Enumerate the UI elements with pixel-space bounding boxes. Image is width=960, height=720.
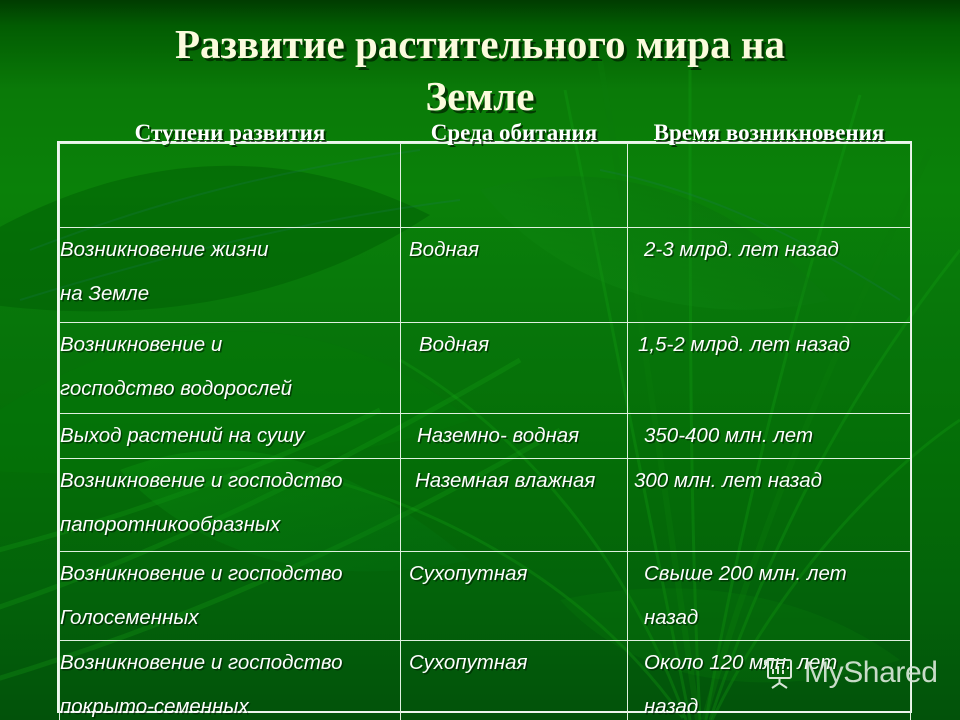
table-row: Возникновение жизни на Земле Водная 2-3 … bbox=[60, 228, 911, 323]
cell-habitat: Наземная влажная bbox=[401, 459, 628, 552]
table-row: Возникновение и господство Голосеменных … bbox=[60, 552, 911, 641]
column-header-habitat-label: Среда обитания bbox=[401, 120, 627, 146]
evolution-table-container: Ступени развития Среда обитания Время во… bbox=[57, 141, 912, 713]
slide-canvas: Развитие растительного мира на Земле Сту… bbox=[0, 0, 960, 720]
cell-habitat: Сухопутная bbox=[401, 641, 628, 720]
cell-habitat: Водная bbox=[401, 228, 628, 323]
cell-habitat: Наземно- водная bbox=[401, 414, 628, 459]
column-header-stage-label: Ступени развития bbox=[60, 120, 400, 146]
table-header: Ступени развития Среда обитания Время во… bbox=[60, 144, 911, 228]
cell-time: Свыше 200 млн. лет назад bbox=[628, 552, 911, 641]
cell-time: 350-400 млн. лет bbox=[628, 414, 911, 459]
cell-time: 1,5-2 млрд. лет назад bbox=[628, 323, 911, 414]
cell-stage: Выход растений на сушу bbox=[60, 414, 401, 459]
cell-habitat: Сухопутная bbox=[401, 552, 628, 641]
cell-stage: Возникновение и господство покрыто-семен… bbox=[60, 641, 401, 720]
cell-stage: Возникновение жизни на Земле bbox=[60, 228, 401, 323]
table-row: Возникновение и господство водорослей Во… bbox=[60, 323, 911, 414]
cell-time: 2-3 млрд. лет назад bbox=[628, 228, 911, 323]
column-header-habitat: Среда обитания bbox=[401, 144, 628, 228]
cell-stage: Возникновение и господство водорослей bbox=[60, 323, 401, 414]
cell-time: 300 млн. лет назад bbox=[628, 459, 911, 552]
cell-stage: Возникновение и господство папоротникооб… bbox=[60, 459, 401, 552]
table-row: Выход растений на сушу Наземно- водная 3… bbox=[60, 414, 911, 459]
cell-habitat: Водная bbox=[401, 323, 628, 414]
column-header-time: Время возникновения bbox=[628, 144, 911, 228]
cell-time: Около 120 млн. лет назад bbox=[628, 641, 911, 720]
evolution-table: Ступени развития Среда обитания Время во… bbox=[59, 143, 911, 720]
slide-title: Развитие растительного мира на Земле bbox=[0, 18, 960, 122]
cell-stage: Возникновение и господство Голосеменных bbox=[60, 552, 401, 641]
table-body: Возникновение жизни на Земле Водная 2-3 … bbox=[60, 228, 911, 720]
table-row: Возникновение и господство папоротникооб… bbox=[60, 459, 911, 552]
column-header-time-label: Время возникновения bbox=[628, 120, 910, 146]
column-header-stage: Ступени развития bbox=[60, 144, 401, 228]
table-row: Возникновение и господство покрыто-семен… bbox=[60, 641, 911, 720]
table-header-row: Ступени развития Среда обитания Время во… bbox=[60, 144, 911, 228]
